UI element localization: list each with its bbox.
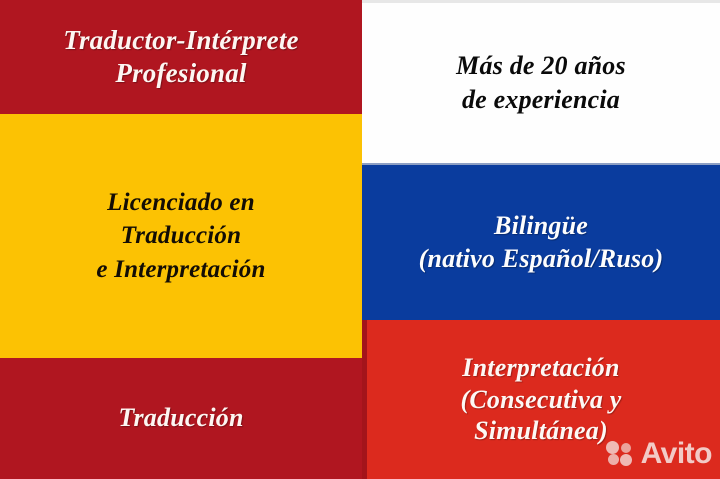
- left-column: Traductor-Intérprete Profesional Licenci…: [0, 0, 362, 479]
- right-column: Más de 20 años de experiencia Bilingüe (…: [362, 0, 720, 479]
- panel-bilingual-text: Bilingüe (nativo Español/Ruso): [409, 210, 674, 276]
- panel-degree-text: Licenciado en Traducción e Interpretació…: [86, 186, 275, 287]
- panel-interpreting-text: Interpretación (Consecutiva y Simultánea…: [451, 352, 632, 447]
- panel-interpreting: Interpretación (Consecutiva y Simultánea…: [362, 320, 720, 479]
- panel-translation-text: Traducción: [108, 403, 253, 434]
- poster-canvas: Traductor-Intérprete Profesional Licenci…: [0, 0, 720, 479]
- panel-translation: Traducción: [0, 358, 362, 479]
- panel-title: Traductor-Intérprete Profesional: [0, 0, 362, 114]
- panel-bilingual: Bilingüe (nativo Español/Ruso): [362, 163, 720, 320]
- panel-experience-text: Más de 20 años de experiencia: [446, 49, 636, 117]
- panel-title-text: Traductor-Intérprete Profesional: [53, 24, 309, 90]
- panel-degree: Licenciado en Traducción e Interpretació…: [0, 114, 362, 358]
- panel-experience: Más de 20 años de experiencia: [362, 0, 720, 163]
